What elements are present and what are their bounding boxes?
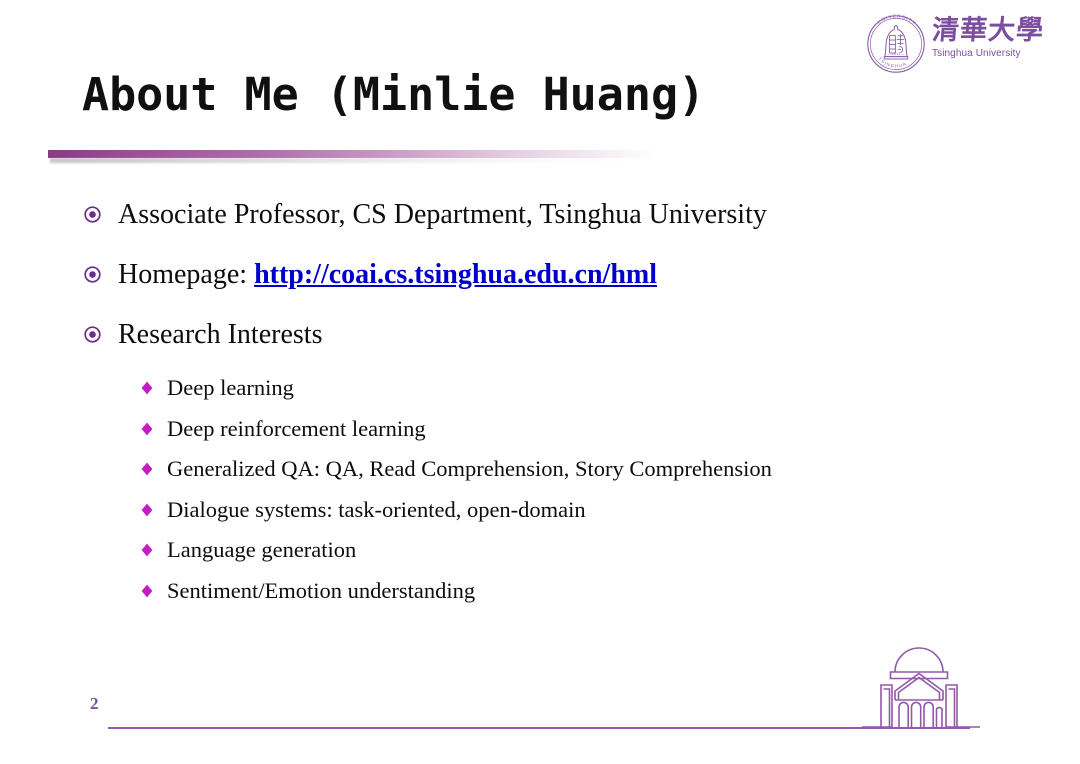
diamond-bullet-icon [140, 381, 154, 395]
ring-dot-bullet-icon [84, 326, 101, 343]
list-item: Generalized QA: QA, Read Comprehension, … [140, 453, 1080, 485]
tsinghua-university-logo: UNIVERSITY TSINGHUA —1911— 清華大學 Tsinghua [866, 14, 1046, 80]
slide-title: About Me (Minlie Huang) [82, 66, 705, 124]
ring-dot-bullet-icon [84, 266, 101, 283]
list-item: Language generation [140, 534, 1080, 566]
sub-bullet-text: Deep learning [167, 372, 294, 404]
diamond-bullet-icon [140, 584, 154, 598]
diamond-bullet-icon [140, 422, 154, 436]
diamond-bullet-icon [140, 503, 154, 517]
bullet-text: Research Interests [118, 316, 322, 354]
title-divider-shadow [50, 158, 656, 163]
sub-bullet-text: Dialogue systems: task-oriented, open-do… [167, 494, 586, 526]
sub-bullet-text: Sentiment/Emotion understanding [167, 575, 475, 607]
list-item: Dialogue systems: task-oriented, open-do… [140, 494, 1080, 526]
diamond-bullet-icon [140, 462, 154, 476]
list-item: Deep reinforcement learning [140, 413, 1080, 445]
svg-text:—1911—: —1911— [887, 51, 905, 56]
list-item: Research Interests [0, 316, 1080, 354]
logo-english-name: Tsinghua University [932, 48, 1021, 60]
tsinghua-seal-icon: UNIVERSITY TSINGHUA —1911— [866, 14, 926, 74]
homepage-line: Homepage: http://coai.cs.tsinghua.edu.cn… [118, 256, 657, 294]
title-divider [48, 150, 656, 164]
research-interests-list: Deep learning Deep reinforcement learnin… [0, 372, 1080, 607]
list-item: Associate Professor, CS Department, Tsin… [0, 196, 1080, 234]
logo-wordmark: 清華大學 Tsinghua University [932, 14, 1044, 60]
bullet-text: Associate Professor, CS Department, Tsin… [118, 196, 767, 234]
ring-dot-bullet-icon [84, 206, 101, 223]
sub-bullet-text: Deep reinforcement learning [167, 413, 426, 445]
homepage-label: Homepage: [118, 259, 254, 290]
title-divider-bar [48, 150, 656, 158]
svg-text:TSINGHUA: TSINGHUA [877, 56, 908, 68]
svg-text:UNIVERSITY: UNIVERSITY [876, 14, 917, 26]
homepage-link[interactable]: http://coai.cs.tsinghua.edu.cn/hml [254, 259, 657, 290]
sub-bullet-text: Generalized QA: QA, Read Comprehension, … [167, 453, 772, 485]
logo-chinese-name: 清華大學 [931, 16, 1045, 46]
slide-body: Associate Professor, CS Department, Tsin… [0, 196, 1080, 615]
footer-rule [108, 727, 970, 729]
list-item: Sentiment/Emotion understanding [140, 575, 1080, 607]
sub-bullet-text: Language generation [167, 534, 356, 566]
page-number: 2 [90, 694, 99, 714]
tsinghua-auditorium-outline-icon [862, 645, 980, 731]
list-item: Homepage: http://coai.cs.tsinghua.edu.cn… [0, 256, 1080, 294]
diamond-bullet-icon [140, 543, 154, 557]
list-item: Deep learning [140, 372, 1080, 404]
